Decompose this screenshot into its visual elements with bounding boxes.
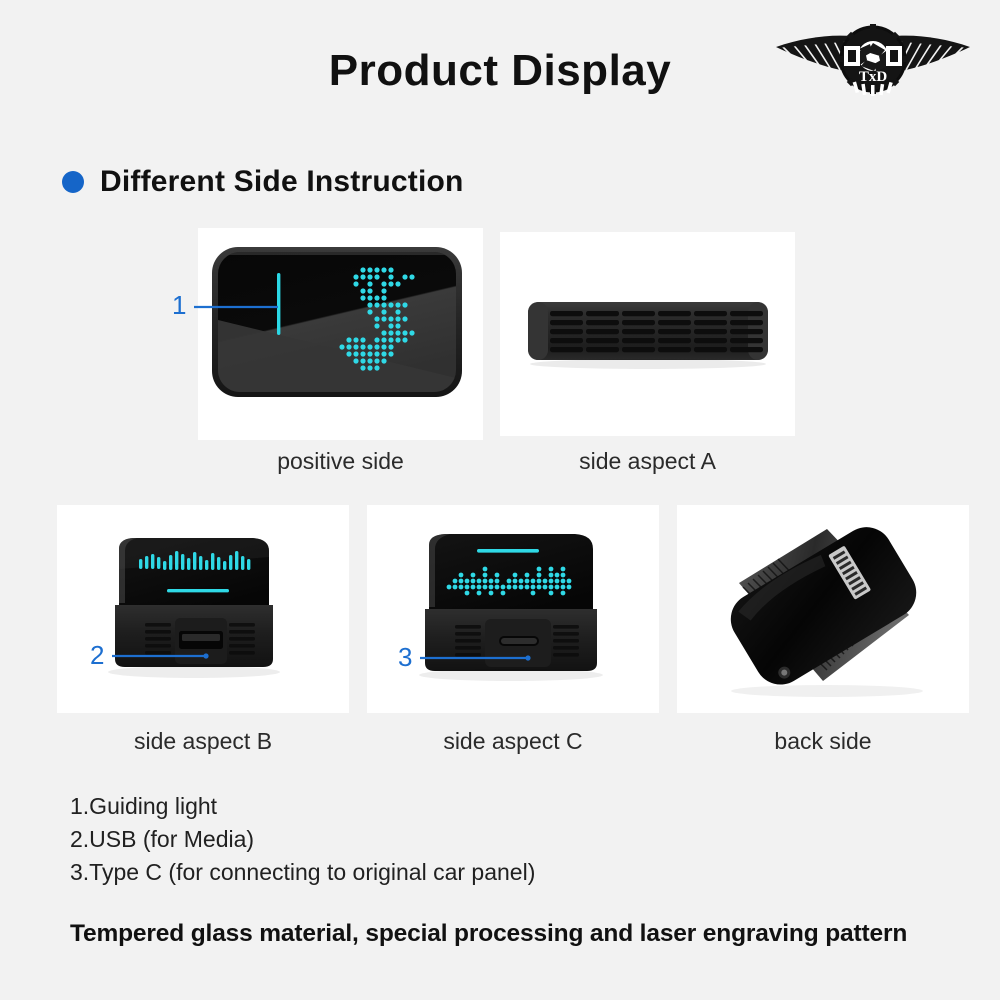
product-image-positive-side (198, 228, 483, 440)
product-image-side-aspect-c (367, 505, 659, 713)
callout-2-number: 2 (90, 640, 104, 670)
guiding-light-strip (167, 589, 229, 592)
caption-positive-side: positive side (198, 448, 483, 475)
legend-list: 1.Guiding light 2.USB (for Media) 3.Type… (70, 790, 930, 889)
caption-side-aspect-c: side aspect C (367, 728, 659, 755)
section-heading-label: Different Side Instruction (100, 165, 464, 199)
callout-1: 1 (170, 290, 285, 330)
callout-3-number: 3 (398, 642, 412, 672)
callout-1-number: 1 (172, 290, 186, 320)
product-image-side-aspect-a (500, 232, 795, 436)
product-image-side-aspect-b (57, 505, 349, 713)
footer-note: Tempered glass material, special process… (70, 920, 960, 948)
caption-back-side: back side (677, 728, 969, 755)
winged-aperture-emblem-icon: TxD (768, 14, 978, 102)
section-heading: Different Side Instruction (62, 165, 464, 199)
caption-side-aspect-a: side aspect A (500, 448, 795, 475)
callout-3: 3 (396, 640, 556, 680)
callout-2: 2 (88, 638, 218, 678)
product-image-back-side (677, 505, 969, 713)
legend-item-3: 3.Type C (for connecting to original car… (70, 856, 930, 889)
caption-side-aspect-b: side aspect B (57, 728, 349, 755)
logo-wordmark: TxD (859, 69, 888, 85)
legend-item-2: 2.USB (for Media) (70, 823, 930, 856)
blue-bullet-dot-icon (62, 171, 84, 193)
legend-item-1: 1.Guiding light (70, 790, 930, 823)
guiding-light-strip (477, 549, 539, 553)
